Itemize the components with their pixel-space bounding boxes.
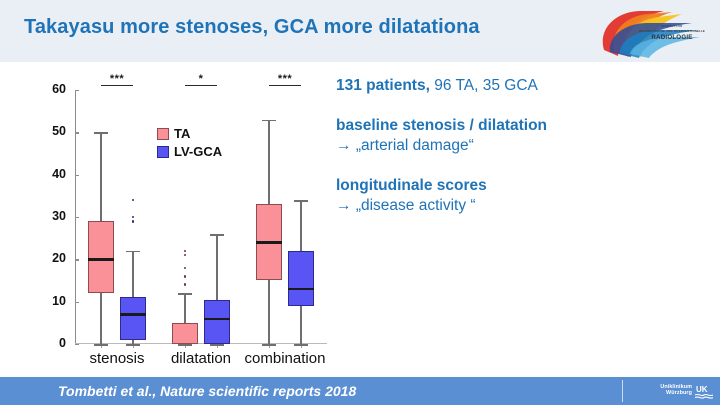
y-axis-tick-label: 10 [42, 294, 66, 308]
significance-label-stenosis: *** [91, 73, 143, 85]
y-axis-tick-label: 20 [42, 251, 66, 265]
whisker-cap-upper [178, 293, 192, 295]
whisker-cap-upper [94, 132, 108, 134]
y-axis-tick-mark [75, 259, 79, 260]
y-axis-tick-mark [75, 302, 79, 303]
baseline-detail-text: „arterial damage“ [356, 137, 474, 154]
significance-bar-combination [269, 85, 301, 86]
page-title: Takayasu more stenoses, GCA more dilatat… [24, 16, 480, 39]
outlier-point [184, 283, 187, 286]
whisker-cap-lower [210, 344, 224, 346]
uk-logo-line-2: Würzburg [648, 390, 692, 396]
x-axis-label-stenosis: stenosis [69, 350, 165, 367]
patients-line: 131 patients, 96 TA, 35 GCA [336, 76, 708, 96]
x-axis-line [75, 343, 327, 344]
uk-monogram-icon: UK [695, 384, 713, 400]
arrow-right-icon: → [336, 137, 352, 154]
arrow-right-icon-2: → [336, 197, 352, 214]
y-axis-tick-mark [75, 132, 79, 133]
whisker-cap-upper [126, 251, 140, 253]
box-ta-dilatation [172, 323, 198, 344]
patients-count: 131 patients, [336, 77, 430, 94]
patients-breakdown: 96 TA, 35 GCA [430, 77, 538, 94]
whisker-cap-lower [294, 344, 308, 346]
median-line [88, 258, 114, 260]
y-axis-tick-mark [75, 90, 79, 91]
box-ta-stenosis [88, 221, 114, 293]
header-divider [0, 62, 720, 65]
x-axis-label-combination: combination [237, 350, 333, 367]
summary-text-panel: 131 patients, 96 TA, 35 GCA baseline ste… [336, 76, 708, 216]
whisker-cap-upper [262, 120, 276, 122]
outlier-point [132, 216, 135, 219]
spacer-2 [336, 156, 708, 176]
box-lv-gca-dilatation [204, 300, 230, 344]
y-axis-tick-label: 30 [42, 209, 66, 223]
y-axis-tick-label: 60 [42, 82, 66, 96]
institut-radiologie-logo: INSTITUT FÜR DIAGNOSTISCHE UND INTERVENT… [592, 6, 710, 58]
significance-bar-stenosis [101, 85, 133, 86]
outlier-point [184, 267, 187, 270]
y-axis-tick-mark [75, 175, 79, 176]
chart-legend: TA LV-GCA [157, 126, 222, 162]
whisker-cap-lower [94, 344, 108, 346]
outlier-point [132, 220, 135, 223]
whisker-cap-lower [178, 344, 192, 346]
median-line [288, 288, 314, 290]
outlier-point [132, 199, 135, 202]
outlier-point [184, 275, 187, 278]
baseline-detail: → „arterial damage“ [336, 136, 708, 156]
legend-label-ta: TA [174, 126, 190, 141]
legend-item-lv-gca: LV-GCA [157, 144, 222, 159]
y-axis-tick-label: 0 [42, 336, 66, 350]
whisker-cap-upper [294, 200, 308, 202]
outlier-point [184, 250, 187, 253]
logo-line-1: INSTITUT FÜR [636, 25, 708, 28]
longitudinal-heading: longitudinale scores [336, 176, 708, 196]
boxplot-chart: 0102030405060 ******* stenosisdilatation… [20, 78, 350, 366]
whisker-cap-lower [262, 344, 276, 346]
baseline-heading: baseline stenosis / dilatation [336, 116, 708, 136]
logo-line-2: DIAGNOSTISCHE UND INTERVENTIONELLE [636, 29, 708, 33]
uniklinikum-wuerzburg-logo: Uniklinikum Würzburg UK [648, 384, 714, 400]
median-line [120, 313, 146, 315]
y-axis-tick-mark [75, 344, 79, 345]
y-axis-tick-label: 50 [42, 124, 66, 138]
legend-item-ta: TA [157, 126, 222, 141]
whisker-cap-lower [126, 344, 140, 346]
significance-label-combination: *** [259, 73, 311, 85]
whisker-cap-upper [210, 234, 224, 236]
footer-separator [622, 380, 623, 402]
legend-swatch-ta-icon [157, 128, 169, 140]
box-lv-gca-stenosis [120, 297, 146, 339]
citation-text: Tombetti et al., Nature scientific repor… [58, 383, 356, 399]
svg-text:UK: UK [696, 385, 708, 394]
outlier-point [184, 254, 187, 257]
legend-label-lv-gca: LV-GCA [174, 144, 222, 159]
longitudinal-detail-text: „disease activity “ [356, 197, 476, 214]
slide-footer: Tombetti et al., Nature scientific repor… [0, 377, 720, 405]
legend-swatch-lv-gca-icon [157, 146, 169, 158]
spacer-1 [336, 96, 708, 116]
y-axis-tick-mark [75, 217, 79, 218]
significance-label-dilatation: * [175, 73, 227, 85]
logo-line-3: RADIOLOGIE [636, 34, 708, 41]
median-line [204, 318, 230, 320]
significance-bar-dilatation [185, 85, 217, 86]
box-lv-gca-combination [288, 251, 314, 306]
y-axis-tick-label: 40 [42, 167, 66, 181]
x-axis-label-dilatation: dilatation [153, 350, 249, 367]
median-line [256, 241, 282, 243]
longitudinal-detail: → „disease activity “ [336, 196, 708, 216]
